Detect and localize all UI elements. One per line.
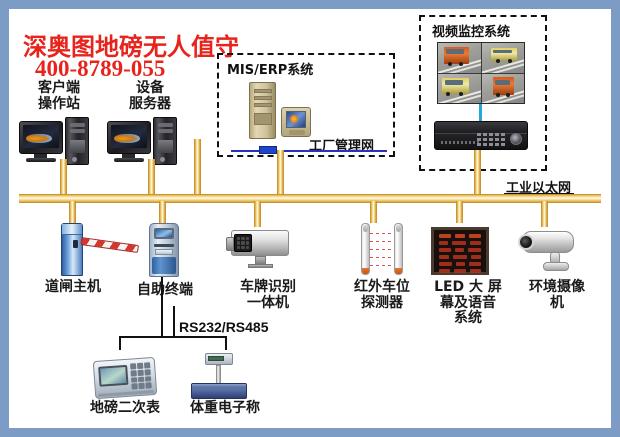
led-row xyxy=(439,255,481,259)
serial-bus-line xyxy=(119,336,227,338)
factory-network-connector xyxy=(259,146,277,154)
phone-number: 400-8789-055 xyxy=(35,56,165,82)
ir-beam xyxy=(370,257,394,258)
outer-frame: 深奥图地磅无人值守 400-8789-055 MIS/ERP系统 工厂管理网 视… xyxy=(0,0,620,437)
mis-erp-title: MIS/ERP系统 xyxy=(227,59,313,78)
ir-beam xyxy=(370,233,394,234)
kiosk-icon xyxy=(149,223,179,277)
serial-branch-line xyxy=(173,306,175,337)
self-service-kiosk-label: 自助终端 xyxy=(119,283,211,299)
diagram-canvas: 深奥图地磅无人值守 400-8789-055 MIS/ERP系统 工厂管理网 视… xyxy=(9,9,611,428)
led-row xyxy=(439,269,481,273)
industrial-ethernet-bus xyxy=(19,194,601,203)
led-row xyxy=(439,234,481,238)
riser-server xyxy=(148,159,155,194)
ir-detector-icon xyxy=(394,223,403,275)
ir-beam xyxy=(370,249,394,250)
quad-cell-3 xyxy=(438,74,481,104)
lpr-base-icon xyxy=(248,264,273,268)
serial-protocol-label: RS232/RS485 xyxy=(179,319,269,335)
drop-kiosk xyxy=(159,201,166,223)
client-workstation-label: 客户端 操作站 xyxy=(13,81,105,112)
lpr-camera-label: 车牌识别 一体机 xyxy=(222,280,314,311)
quad-cell-2 xyxy=(482,43,525,73)
dvr-video-link xyxy=(479,104,482,121)
drop-lpr xyxy=(254,201,261,227)
riser-client xyxy=(60,159,67,194)
weighbridge-indicator-label: 地磅二次表 xyxy=(77,401,173,417)
quad-cell-4 xyxy=(482,74,525,104)
env-camera-label: 环境摄像 机 xyxy=(514,280,600,311)
dvr-icon xyxy=(434,121,528,150)
drop-ir-detector xyxy=(370,201,377,223)
serial-trunk-line xyxy=(161,277,163,337)
riser-factory-net xyxy=(277,150,284,194)
platform-scale-icon xyxy=(191,383,247,399)
barrier-gate-label: 道闸主机 xyxy=(23,280,123,296)
drop-barrier-gate xyxy=(69,201,76,223)
lpr-camera-icon xyxy=(231,230,289,256)
server-monitor-icon xyxy=(281,107,311,137)
camera-lens-icon xyxy=(518,234,534,250)
desktop-computer-icon xyxy=(107,117,179,165)
ir-detector-icon xyxy=(361,223,370,275)
ir-beam xyxy=(370,241,394,242)
camera-base-icon xyxy=(543,262,569,271)
riser-mis-erp xyxy=(194,139,201,194)
led-board-icon xyxy=(431,227,489,275)
riser-dvr xyxy=(474,150,481,194)
barrier-arm-icon xyxy=(80,237,139,253)
server-tower-icon xyxy=(249,82,276,139)
quad-cell-1 xyxy=(438,43,481,73)
drop-env-camera xyxy=(541,201,548,227)
factory-network-line xyxy=(231,150,387,152)
drop-led-board xyxy=(456,201,463,223)
ir-beam xyxy=(370,265,394,266)
barrier-gate-icon xyxy=(61,223,83,276)
serial-drop-indicator xyxy=(119,336,121,350)
desktop-computer-icon xyxy=(19,117,91,165)
device-server-label: 设备 服务器 xyxy=(104,81,196,112)
electronic-scale-label: 体重电子称 xyxy=(177,401,273,417)
scale-head-icon xyxy=(205,353,233,365)
ir-detector-label: 红外车位 探测器 xyxy=(337,280,427,311)
led-display-label: LED 大 屏 幕及语音 系统 xyxy=(424,280,512,327)
led-row xyxy=(439,241,481,245)
serial-drop-scale xyxy=(225,336,227,350)
led-row xyxy=(439,248,481,252)
quad-monitor-icon xyxy=(437,42,525,104)
led-row xyxy=(439,262,481,266)
weight-indicator-icon xyxy=(93,357,157,399)
video-surveillance-title: 视频监控系统 xyxy=(432,21,510,40)
